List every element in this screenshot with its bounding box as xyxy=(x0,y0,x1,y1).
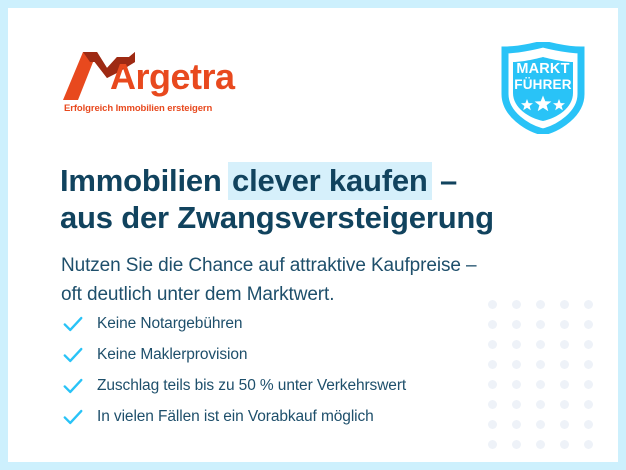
subtitle: Nutzen Sie die Chance auf attraktive Kau… xyxy=(61,251,476,309)
grid-dot xyxy=(488,340,497,349)
grid-dot xyxy=(512,440,521,449)
grid-dot xyxy=(584,400,593,409)
grid-dot xyxy=(512,420,521,429)
grid-dot xyxy=(512,400,521,409)
check-icon xyxy=(62,375,84,397)
grid-dot xyxy=(512,380,521,389)
list-item-label: Zuschlag teils bis zu 50 % unter Verkehr… xyxy=(97,377,406,395)
grid-dot xyxy=(560,360,569,369)
subtitle-line-2: oft deutlich unter dem Marktwert. xyxy=(61,284,334,305)
list-item: Keine Maklerprovision xyxy=(62,339,406,370)
grid-dot xyxy=(488,320,497,329)
headline-dash: – xyxy=(432,163,457,198)
headline-highlight: clever kaufen xyxy=(228,162,432,200)
grid-dot xyxy=(512,300,521,309)
grid-dot xyxy=(536,300,545,309)
headline-text-plain: Immobilien xyxy=(60,163,230,198)
list-item: In vielen Fällen ist ein Vorabkauf mögli… xyxy=(62,401,406,432)
grid-dot xyxy=(560,440,569,449)
grid-dot xyxy=(560,380,569,389)
check-icon xyxy=(62,406,84,428)
grid-dot xyxy=(488,360,497,369)
shield-icon xyxy=(497,42,589,134)
grid-dot xyxy=(584,380,593,389)
grid-dot xyxy=(512,340,521,349)
subtitle-line-1: Nutzen Sie die Chance auf attraktive Kau… xyxy=(61,255,476,276)
grid-dot xyxy=(584,340,593,349)
dot-grid-decoration xyxy=(488,300,608,460)
grid-dot xyxy=(536,400,545,409)
grid-dot xyxy=(584,300,593,309)
list-item-label: Keine Maklerprovision xyxy=(97,346,247,364)
grid-dot xyxy=(560,320,569,329)
list-item: Keine Notargebühren xyxy=(62,308,406,339)
grid-dot xyxy=(488,300,497,309)
grid-dot xyxy=(536,320,545,329)
grid-dot xyxy=(488,400,497,409)
argetra-logo[interactable]: Argetra Erfolgreich Immobilien ersteiger… xyxy=(63,52,263,118)
list-item-label: Keine Notargebühren xyxy=(97,315,242,333)
grid-dot xyxy=(512,360,521,369)
grid-dot xyxy=(488,420,497,429)
grid-dot xyxy=(584,360,593,369)
headline-line-1: Immobilien clever kaufen – xyxy=(60,163,457,198)
list-item: Zuschlag teils bis zu 50 % unter Verkehr… xyxy=(62,370,406,401)
logo-wordmark: Argetra xyxy=(110,59,235,95)
grid-dot xyxy=(512,320,521,329)
list-item-label: In vielen Fällen ist ein Vorabkauf mögli… xyxy=(97,408,374,426)
grid-dot xyxy=(560,400,569,409)
headline-line-2: aus der Zwangsversteigerung xyxy=(60,200,494,235)
grid-dot xyxy=(536,340,545,349)
grid-dot xyxy=(584,440,593,449)
page-title: Immobilien clever kaufen – aus der Zwang… xyxy=(60,162,494,236)
check-icon xyxy=(62,344,84,366)
benefits-list: Keine Notargebühren Keine Maklerprovisio… xyxy=(62,308,406,432)
grid-dot xyxy=(584,420,593,429)
grid-dot xyxy=(536,360,545,369)
grid-dot xyxy=(488,440,497,449)
grid-dot xyxy=(560,420,569,429)
grid-dot xyxy=(560,340,569,349)
markt-fuehrer-badge: MARKT FÜHRER xyxy=(497,42,589,134)
grid-dot xyxy=(560,300,569,309)
grid-dot xyxy=(488,380,497,389)
logo-tagline: Erfolgreich Immobilien ersteigern xyxy=(64,103,212,114)
grid-dot xyxy=(536,440,545,449)
promo-banner-card: Argetra Erfolgreich Immobilien ersteiger… xyxy=(8,8,618,462)
grid-dot xyxy=(536,380,545,389)
check-icon xyxy=(62,313,84,335)
grid-dot xyxy=(584,320,593,329)
grid-dot xyxy=(536,420,545,429)
